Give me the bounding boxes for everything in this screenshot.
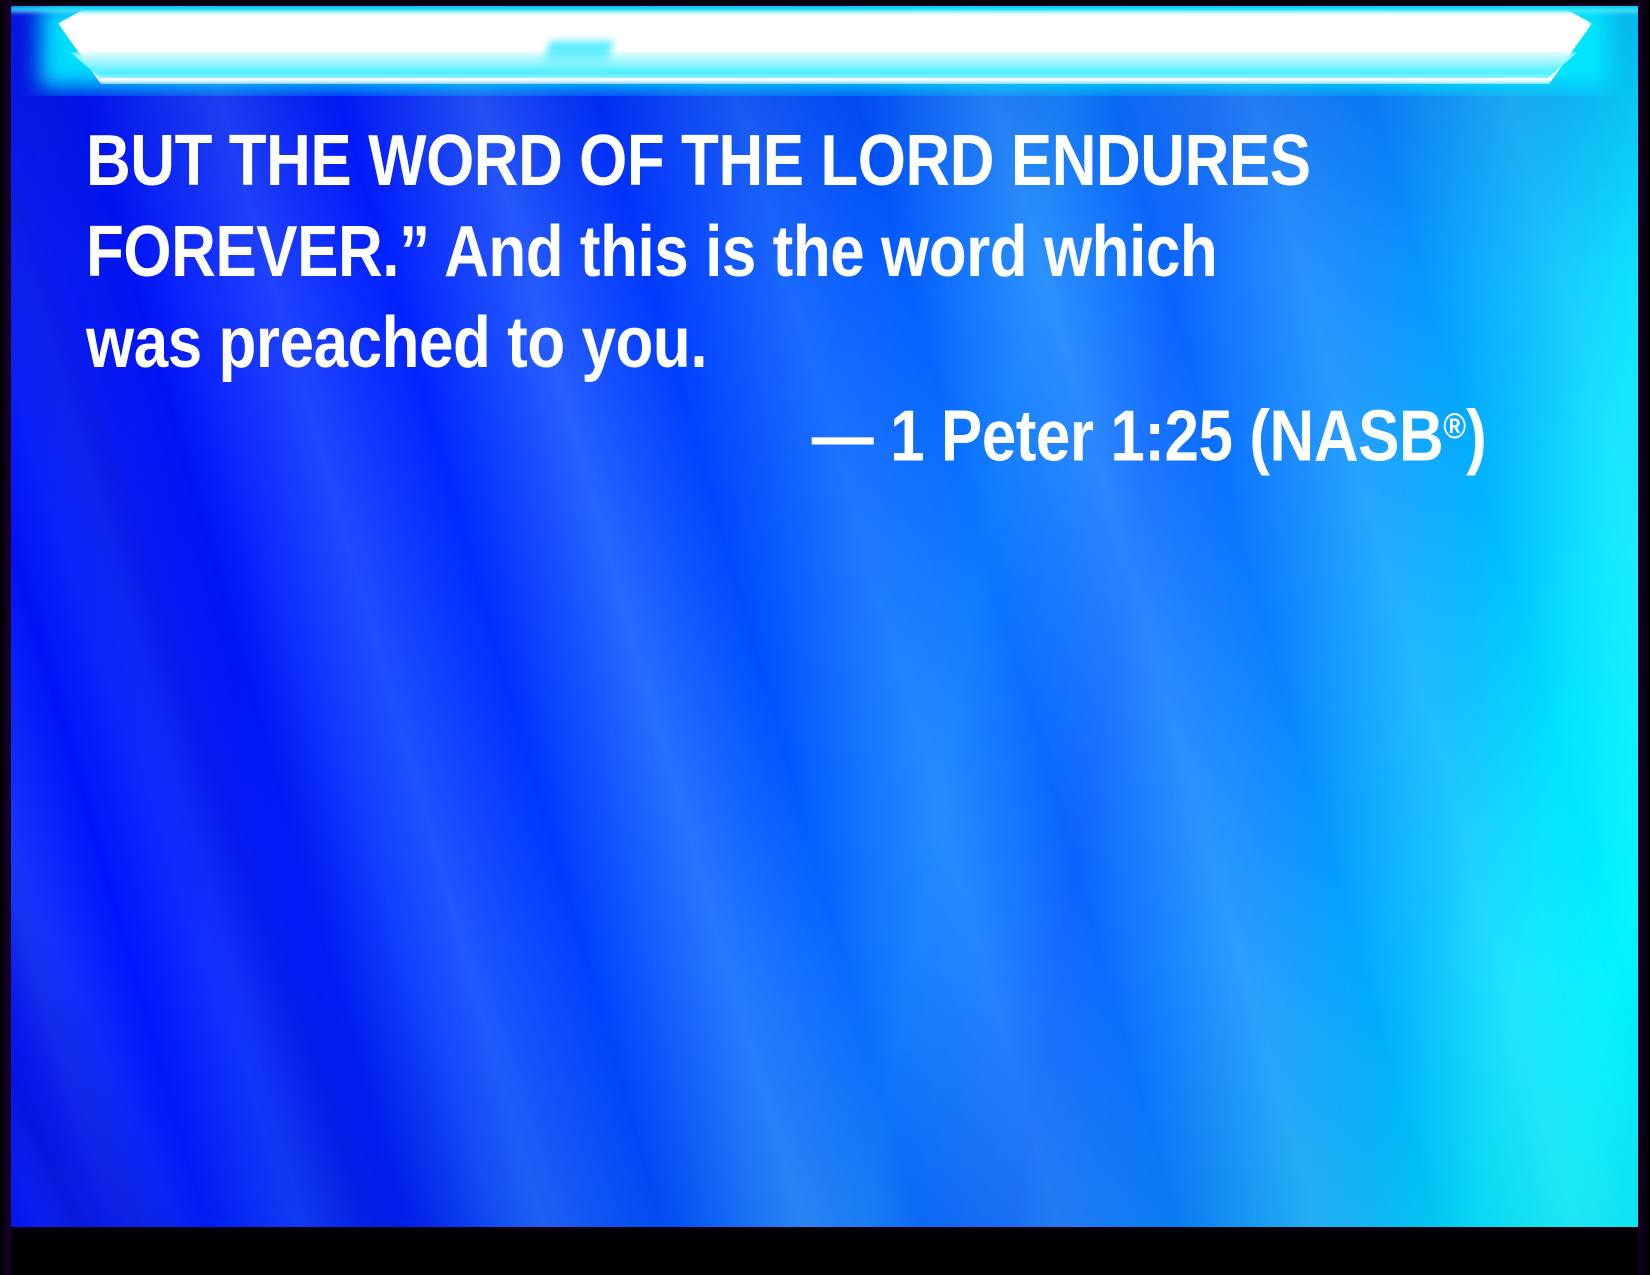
top-glow-band: [0, 0, 1650, 96]
top-cyan-hairline: [10, 5, 1640, 12]
frame-left-edge: [0, 0, 11, 1275]
top-glow-lip: [70, 52, 1578, 78]
verse-line-3: was preached to you.: [86, 298, 1290, 389]
citation-suffix: ): [1466, 396, 1486, 476]
frame-right-edge: [1638, 0, 1650, 1275]
citation-prefix: — 1 Peter 1:25 (NASB: [812, 396, 1443, 476]
scripture-slide: BUT THE WORD OF THE LORD ENDURES FOREVER…: [0, 0, 1650, 1275]
verse-citation: — 1 Peter 1:25 (NASB®): [86, 380, 1486, 482]
top-glow-notch: [541, 42, 613, 76]
citation-inner: — 1 Peter 1:25 (NASB®): [812, 380, 1486, 482]
verse-line-1: BUT THE WORD OF THE LORD ENDURES: [86, 116, 1290, 207]
verse-line-2: FOREVER.” And this is the word which: [86, 207, 1290, 298]
top-glow-core: [58, 10, 1592, 84]
verse-text-block: BUT THE WORD OF THE LORD ENDURES FOREVER…: [86, 116, 1486, 389]
top-glow-halo: [40, 2, 1610, 88]
registered-trademark-icon: ®: [1443, 405, 1466, 446]
frame-bottom-edge: [0, 1227, 1650, 1275]
frame-top-edge: [0, 0, 1650, 6]
